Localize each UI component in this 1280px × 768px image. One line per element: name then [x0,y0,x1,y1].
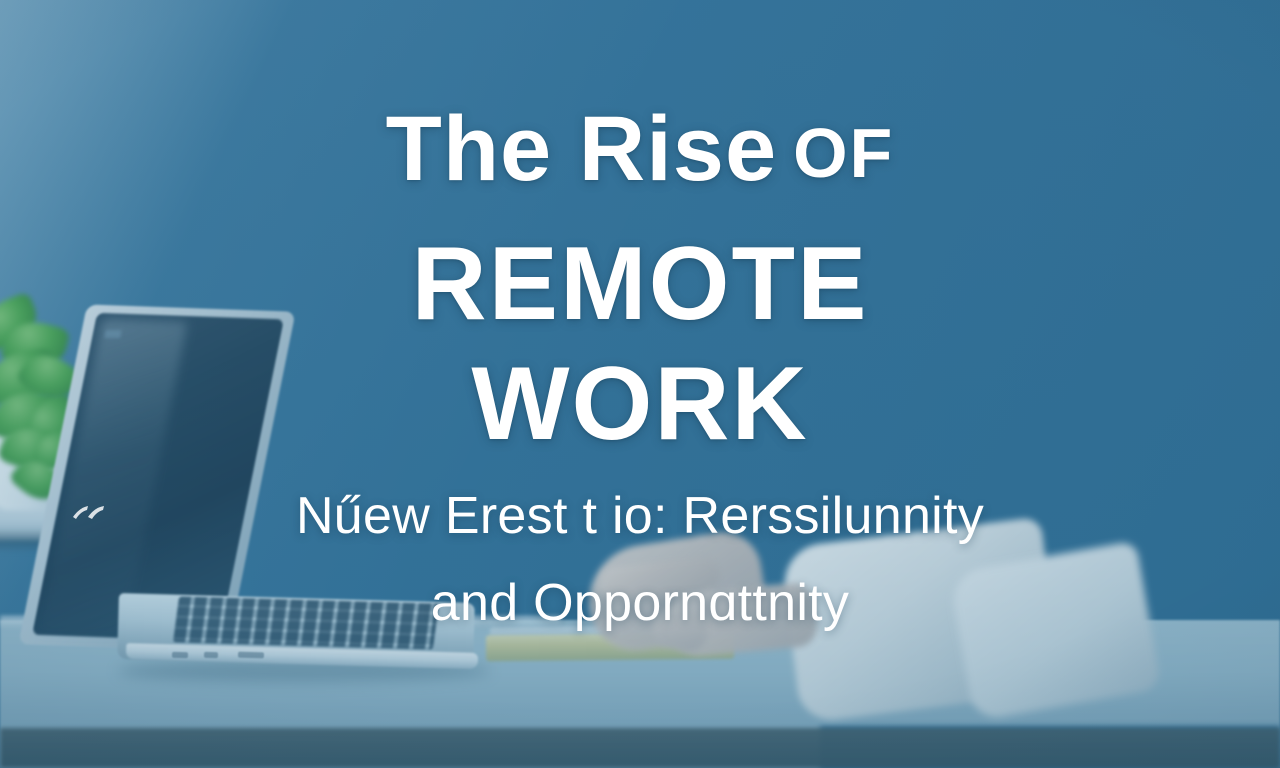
subtitle-line-1: Nűew Erest t io: Rerssilunnity [0,490,1280,542]
headline-of: OF [777,114,894,192]
headline-work: WORK [0,352,1280,456]
poster-canvas: The RiseOF REMOTE WORK Nűew Erest t io: … [0,0,1280,768]
headline-the-rise: The Rise [386,98,777,200]
headline-remote: REMOTE [0,232,1280,336]
subtitle-line-2: and Oppornɑttnity [0,577,1280,629]
text-layer: The RiseOF REMOTE WORK Nűew Erest t io: … [0,0,1280,768]
quote-mark-artifact [70,498,110,524]
headline-line-1: The RiseOF [0,103,1280,195]
